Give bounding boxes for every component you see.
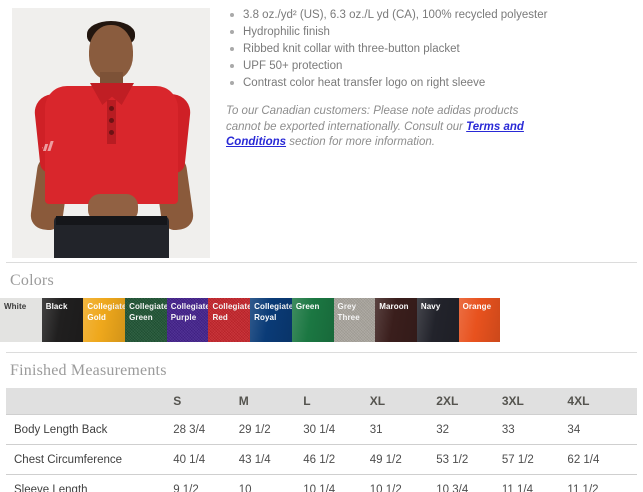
column-header-2xl: 2XL [436,388,502,415]
measurements-table-body: Body Length Back 28 3/4 29 1/2 30 1/4 31… [6,415,637,492]
adidas-logo-icon [42,138,55,149]
column-header-blank [6,388,173,415]
color-swatch-label: Collegiate Green [129,302,166,323]
column-header-m: M [239,388,304,415]
product-image-panel [0,0,218,258]
measurement-cell: 34 [567,415,637,445]
color-swatch[interactable]: Black [42,298,84,342]
measurement-cell: 40 1/4 [173,445,239,475]
color-swatch-label: Green [296,302,333,313]
color-swatch[interactable]: Maroon [375,298,417,342]
canadian-customers-note: To our Canadian customers: Please note a… [226,104,556,151]
feature-text: Contrast color heat transfer logo on rig… [243,77,485,89]
feature-item: Contrast color heat transfer logo on rig… [226,75,631,92]
measurements-table: S M L XL 2XL 3XL 4XL Body Length Back 28… [6,388,637,492]
measurement-cell: 29 1/2 [239,415,304,445]
measurement-cell: 10 1/2 [370,475,437,492]
color-swatch[interactable]: Green [292,298,334,342]
measurement-cell: 43 1/4 [239,445,304,475]
feature-list: 3.8 oz./yd² (US), 6.3 oz./L yd (CA), 100… [226,7,631,92]
table-row: Body Length Back 28 3/4 29 1/2 30 1/4 31… [6,415,637,445]
color-swatch-label: Collegiate Purple [171,302,208,323]
row-label: Chest Circumference [6,445,173,475]
color-swatch-label: Collegiate Red [212,302,249,323]
feature-item: Ribbed knit collar with three-button pla… [226,41,631,58]
feature-text: Ribbed knit collar with three-button pla… [243,43,460,55]
column-header-s: S [173,388,239,415]
measurement-cell: 30 1/4 [303,415,370,445]
feature-item: UPF 50+ protection [226,58,631,75]
color-swatch-label: Grey Three [338,302,375,323]
product-detail-page: 3.8 oz./yd² (US), 6.3 oz./L yd (CA), 100… [0,0,643,492]
measurement-cell: 62 1/4 [567,445,637,475]
color-swatch-label: White [4,302,41,313]
color-swatch[interactable]: Collegiate Red [208,298,250,342]
column-header-4xl: 4XL [567,388,637,415]
column-header-3xl: 3XL [502,388,568,415]
bullet-icon [230,30,234,34]
feature-text: UPF 50+ protection [243,60,342,72]
measurement-cell: 33 [502,415,568,445]
color-swatch-label: Navy [421,302,458,313]
measurement-cell: 49 1/2 [370,445,437,475]
table-row: Sleeve Length 9 1/2 10 10 1/4 10 1/2 10 … [6,475,637,492]
color-swatch[interactable]: Collegiate Gold [83,298,125,342]
measurement-cell: 53 1/2 [436,445,502,475]
measurements-table-head: S M L XL 2XL 3XL 4XL [6,388,637,415]
measurement-cell: 10 1/4 [303,475,370,492]
bullet-icon [230,13,234,17]
color-swatch[interactable]: White [0,298,42,342]
measurement-cell: 46 1/2 [303,445,370,475]
note-text-after: section for more information. [286,136,435,148]
color-swatch[interactable]: Grey Three [334,298,376,342]
measurement-cell: 11 1/4 [502,475,568,492]
bullet-icon [230,47,234,51]
bullet-icon [230,64,234,68]
product-photo[interactable] [12,8,210,258]
column-header-xl: XL [370,388,437,415]
row-label: Body Length Back [6,415,173,445]
color-swatch-label: Collegiate Gold [87,302,124,323]
colors-heading: Colors [0,263,643,298]
measurement-cell: 32 [436,415,502,445]
feature-text: Hydrophilic finish [243,26,330,38]
feature-item: 3.8 oz./yd² (US), 6.3 oz./L yd (CA), 100… [226,7,631,24]
measurements-table-wrap: S M L XL 2XL 3XL 4XL Body Length Back 28… [0,388,643,492]
measurement-cell: 10 3/4 [436,475,502,492]
measurement-cell: 31 [370,415,437,445]
color-swatch-label: Orange [463,302,500,313]
feature-text: 3.8 oz./yd² (US), 6.3 oz./L yd (CA), 100… [243,9,547,21]
color-swatch-row: White Black Collegiate Gold Collegiate G… [0,298,643,342]
color-swatch-label: Black [46,302,83,313]
column-header-l: L [303,388,370,415]
product-overview-section: 3.8 oz./yd² (US), 6.3 oz./L yd (CA), 100… [0,0,643,262]
color-swatch[interactable]: Orange [459,298,501,342]
color-swatch-label: Collegiate Royal [254,302,291,323]
product-details-column: 3.8 oz./yd² (US), 6.3 oz./L yd (CA), 100… [218,0,643,162]
measurement-cell: 9 1/2 [173,475,239,492]
feature-item: Hydrophilic finish [226,24,631,41]
table-header-row: S M L XL 2XL 3XL 4XL [6,388,637,415]
measurement-cell: 10 [239,475,304,492]
color-swatch[interactable]: Collegiate Purple [167,298,209,342]
color-swatch[interactable]: Collegiate Green [125,298,167,342]
color-swatch-label: Maroon [379,302,416,313]
measurement-cell: 28 3/4 [173,415,239,445]
color-swatch[interactable]: Collegiate Royal [250,298,292,342]
bullet-icon [230,81,234,85]
table-row: Chest Circumference 40 1/4 43 1/4 46 1/2… [6,445,637,475]
measurement-cell: 11 1/2 [567,475,637,492]
measurement-cell: 57 1/2 [502,445,568,475]
row-label: Sleeve Length [6,475,173,492]
color-swatch[interactable]: Navy [417,298,459,342]
measurements-heading: Finished Measurements [0,353,643,388]
